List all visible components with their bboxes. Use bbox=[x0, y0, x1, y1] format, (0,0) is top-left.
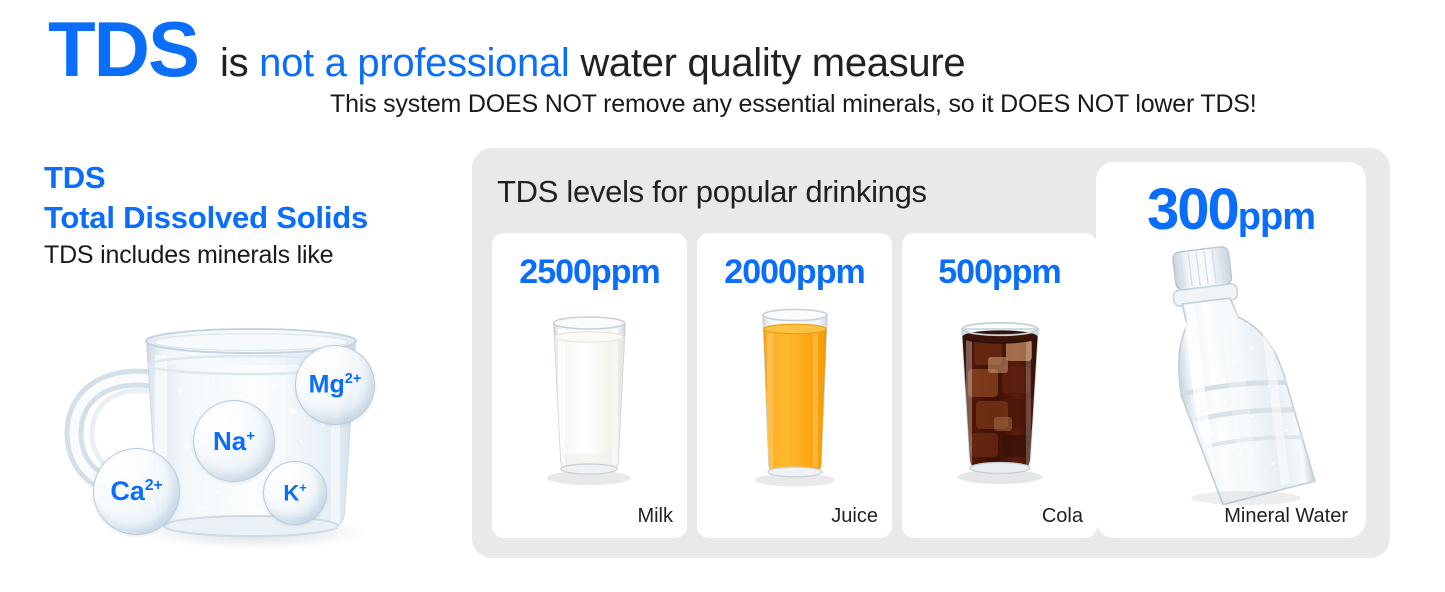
subheadline: This system DOES NOT remove any essentia… bbox=[330, 90, 1257, 119]
sodium-bubble: Na+ bbox=[193, 400, 275, 482]
mineral-water-mug-illustration: Mg2+ Na+ Ca2+ K+ bbox=[55, 295, 445, 565]
bottle-group bbox=[1150, 237, 1328, 509]
infographic-canvas: TDS is not a professional water quality … bbox=[0, 0, 1445, 592]
cola-label: Cola bbox=[1042, 505, 1083, 528]
drink-card-list: 2500ppm bbox=[492, 233, 1097, 538]
juice-glass-icon bbox=[697, 299, 892, 504]
juice-glass-art bbox=[697, 299, 892, 504]
juice-glass-base bbox=[768, 467, 822, 477]
milk-glass-icon bbox=[492, 299, 687, 504]
cola-ppm-value: 500ppm bbox=[902, 253, 1097, 292]
mineral-water-label: Mineral Water bbox=[1224, 505, 1348, 528]
magnesium-label: Mg2+ bbox=[309, 372, 362, 397]
magnesium-bubble: Mg2+ bbox=[295, 345, 375, 425]
comparison-panel: TDS levels for popular drinkings 2500ppm bbox=[472, 148, 1390, 558]
juice-label: Juice bbox=[831, 505, 878, 528]
calcium-label: Ca2+ bbox=[110, 478, 162, 505]
milk-liquid bbox=[552, 329, 630, 476]
milk-glass-art bbox=[492, 299, 687, 504]
tds-expansion: Total Dissolved Solids bbox=[44, 198, 368, 238]
juice-ppm-value: 2000ppm bbox=[697, 253, 892, 292]
headline-sentence: is not a professional water quality meas… bbox=[220, 43, 965, 83]
headline-text-before: is bbox=[220, 41, 248, 85]
cola-glass-icon bbox=[902, 299, 1097, 504]
drink-card-juice[interactable]: 2000ppm bbox=[697, 233, 892, 538]
water-bottle-art bbox=[1096, 240, 1366, 508]
cola-liquid bbox=[960, 333, 1042, 473]
mineral-water-ppm: 300ppm bbox=[1096, 176, 1366, 243]
left-text-block: TDS Total Dissolved Solids TDS includes … bbox=[44, 158, 368, 273]
tds-caption: TDS includes minerals like bbox=[44, 239, 368, 273]
juice-surface bbox=[764, 324, 826, 334]
milk-glass-rim bbox=[554, 317, 625, 329]
bottle-shadow bbox=[1191, 491, 1301, 505]
cola-glass-base bbox=[970, 463, 1030, 474]
milk-label: Milk bbox=[637, 505, 673, 528]
sodium-label: Na+ bbox=[213, 428, 255, 454]
water-bottle-icon bbox=[1096, 240, 1366, 508]
potassium-bubble: K+ bbox=[263, 461, 327, 525]
cola-glass-art bbox=[902, 299, 1097, 504]
bottle-cap bbox=[1172, 246, 1232, 291]
milk-glass-base bbox=[561, 464, 617, 474]
calcium-bubble: Ca2+ bbox=[93, 448, 180, 535]
milk-surface bbox=[555, 332, 623, 342]
headline-text-after: water quality measure bbox=[580, 41, 965, 85]
headline-text-highlight: not a professional bbox=[259, 41, 569, 85]
headline: TDS is not a professional water quality … bbox=[48, 10, 965, 88]
headline-brand: TDS bbox=[48, 10, 198, 88]
tds-abbreviation: TDS bbox=[44, 158, 368, 198]
milk-ppm-value: 2500ppm bbox=[492, 253, 687, 292]
mineral-water-ppm-unit: ppm bbox=[1238, 196, 1315, 238]
drink-card-milk[interactable]: 2500ppm bbox=[492, 233, 687, 538]
drink-card-cola[interactable]: 500ppm bbox=[902, 233, 1097, 538]
potassium-label: K+ bbox=[283, 482, 306, 504]
juice-glass-rim bbox=[763, 309, 827, 320]
mineral-water-ppm-number: 300 bbox=[1147, 177, 1238, 242]
drink-card-mineral-water[interactable]: 300ppm bbox=[1096, 162, 1366, 538]
comparison-panel-title: TDS levels for popular drinkings bbox=[497, 174, 927, 210]
juice-liquid bbox=[761, 325, 831, 477]
